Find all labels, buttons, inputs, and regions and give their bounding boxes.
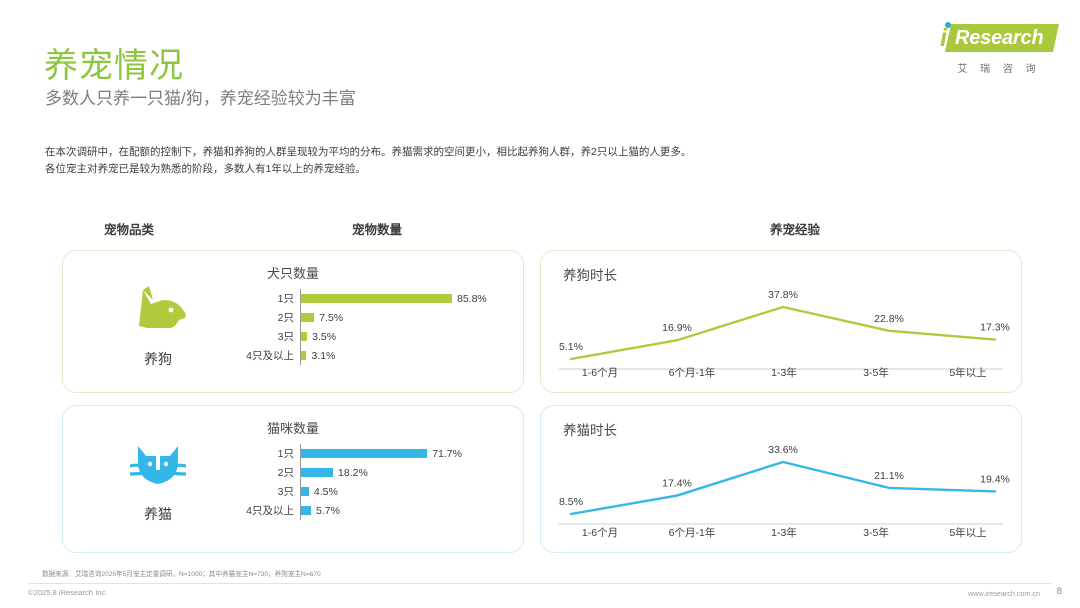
logo-chinese-name: 艾 瑞 咨 询	[934, 60, 1056, 75]
x-axis-tick-label: 1-3年	[741, 365, 827, 380]
bar-value-label: 18.2%	[333, 467, 368, 479]
page-paragraph: 在本次调研中，在配额的控制下，养猫和养狗的人群呈现较为平均的分布。养猫需求的空间…	[45, 144, 1005, 178]
line-series-path	[571, 462, 995, 514]
pet-block-cat: 养猫	[93, 430, 223, 524]
bar-value-label: 4.5%	[309, 486, 338, 498]
bar-category-label: 4只及以上	[238, 503, 300, 518]
chart-title-cat-count: 猫咪数量	[63, 418, 523, 437]
bar-fill	[301, 313, 314, 322]
chart-title-dog-count: 犬只数量	[63, 263, 523, 282]
card-dog-duration: 养狗时长 5.1%16.9%37.8%22.8%17.3% 1-6个月6个月-1…	[540, 250, 1022, 393]
data-point-label: 17.4%	[662, 478, 692, 490]
card-cat-count: 养猫 猫咪数量 1只71.7%2只18.2%3只4.5%4只及以上5.7%	[62, 405, 524, 553]
cat-face-icon	[93, 430, 223, 502]
bar-fill	[301, 468, 333, 477]
line-chart-cat-duration: 8.5%17.4%33.6%21.1%19.4%	[547, 428, 1013, 537]
caption-pet-category: 宠物品类	[104, 219, 154, 238]
x-axis-tick-label: 3-5年	[833, 525, 919, 540]
x-axis-tick-label: 3-5年	[833, 365, 919, 380]
pet-label-dog: 养狗	[93, 349, 223, 369]
bar-row: 2只18.2%	[238, 463, 513, 482]
data-point-label: 33.6%	[768, 444, 798, 456]
bar-category-label: 3只	[238, 329, 300, 344]
logo-letter-i: i	[940, 26, 947, 50]
x-axis-tick-label: 1-3年	[741, 525, 827, 540]
data-point-label: 37.8%	[768, 289, 798, 301]
bar-category-label: 1只	[238, 446, 300, 461]
bar-value-label: 7.5%	[314, 312, 343, 324]
footer-divider	[28, 583, 1052, 584]
x-axis-tick-label: 5年以上	[925, 525, 1011, 540]
paragraph-line-2: 各位宠主对养宠已是较为熟悉的阶段，多数人有1年以上的养宠经验。	[45, 161, 1005, 178]
bar-fill	[301, 487, 309, 496]
caption-pet-count: 宠物数量	[352, 219, 402, 238]
bar-category-label: 2只	[238, 310, 300, 325]
bar-chart-dog-count: 1只85.8%2只7.5%3只3.5%4只及以上3.1%	[238, 289, 513, 365]
caption-pet-experience: 养宠经验	[770, 219, 820, 238]
bar-value-label: 3.1%	[306, 350, 335, 362]
bar-value-label: 5.7%	[311, 505, 340, 517]
x-axis-tick-label: 6个月-1年	[649, 525, 735, 540]
bar-row: 4只及以上5.7%	[238, 501, 513, 520]
bar-category-label: 4只及以上	[238, 348, 300, 363]
page-subtitle: 多数人只养一只猫/狗，养宠经验较为丰富	[45, 84, 356, 109]
bar-row: 3只3.5%	[238, 327, 513, 346]
data-point-label: 22.8%	[874, 313, 904, 325]
bar-fill	[301, 506, 311, 515]
data-point-label: 16.9%	[662, 322, 692, 334]
bar-category-label: 1只	[238, 291, 300, 306]
bar-row: 2只7.5%	[238, 308, 513, 327]
logo-dot-icon	[945, 22, 951, 28]
bar-row: 3只4.5%	[238, 482, 513, 501]
x-axis-labels-cat-duration: 1-6个月6个月-1年1-3年3-5年5年以上	[557, 525, 1011, 540]
card-cat-duration: 养猫时长 8.5%17.4%33.6%21.1%19.4% 1-6个月6个月-1…	[540, 405, 1022, 553]
bar-fill	[301, 294, 452, 303]
bar-fill	[301, 449, 427, 458]
dog-head-icon	[93, 275, 223, 347]
bar-category-label: 3只	[238, 484, 300, 499]
x-axis-tick-label: 1-6个月	[557, 525, 643, 540]
data-point-label: 5.1%	[559, 341, 583, 353]
footer-data-source: 数据来源：艾瑞咨询2025年5月宠主定量调研，N=1000；其中养猫宠主N=73…	[42, 568, 321, 578]
bar-chart-cat-count: 1只71.7%2只18.2%3只4.5%4只及以上5.7%	[238, 444, 513, 520]
data-point-label: 8.5%	[559, 496, 583, 508]
footer-copyright: ©2025.8 iResearch Inc.	[28, 588, 107, 597]
pet-label-cat: 养猫	[93, 504, 223, 524]
paragraph-line-1: 在本次调研中，在配额的控制下，养猫和养狗的人群呈现较为平均的分布。养猫需求的空间…	[45, 144, 1005, 161]
x-axis-labels-dog-duration: 1-6个月6个月-1年1-3年3-5年5年以上	[557, 365, 1011, 380]
data-point-label: 21.1%	[874, 470, 904, 482]
logo-wordmark: Research	[955, 26, 1043, 50]
page-title: 养宠情况	[44, 38, 184, 87]
iresearch-logo: i Research 艾 瑞 咨 询	[934, 22, 1056, 75]
bar-value-label: 85.8%	[452, 293, 487, 305]
logo-mark: i Research	[934, 22, 1056, 56]
bar-row: 4只及以上3.1%	[238, 346, 513, 365]
bar-value-label: 3.5%	[307, 331, 336, 343]
x-axis-tick-label: 1-6个月	[557, 365, 643, 380]
pet-block-dog: 养狗	[93, 275, 223, 369]
x-axis-tick-label: 6个月-1年	[649, 365, 735, 380]
card-dog-count: 养狗 犬只数量 1只85.8%2只7.5%3只3.5%4只及以上3.1%	[62, 250, 524, 393]
bar-value-label: 71.7%	[427, 448, 462, 460]
page-number: 8	[1057, 586, 1062, 597]
line-series-path	[571, 307, 995, 359]
slide-page: i Research 艾 瑞 咨 询 养宠情况 多数人只养一只猫/狗，养宠经验较…	[0, 0, 1080, 608]
data-point-label: 17.3%	[980, 322, 1010, 334]
bar-row: 1只71.7%	[238, 444, 513, 463]
data-point-label: 19.4%	[980, 473, 1010, 485]
x-axis-tick-label: 5年以上	[925, 365, 1011, 380]
footer-url: www.iresearch.com.cn	[968, 589, 1040, 598]
bar-category-label: 2只	[238, 465, 300, 480]
bar-row: 1只85.8%	[238, 289, 513, 308]
